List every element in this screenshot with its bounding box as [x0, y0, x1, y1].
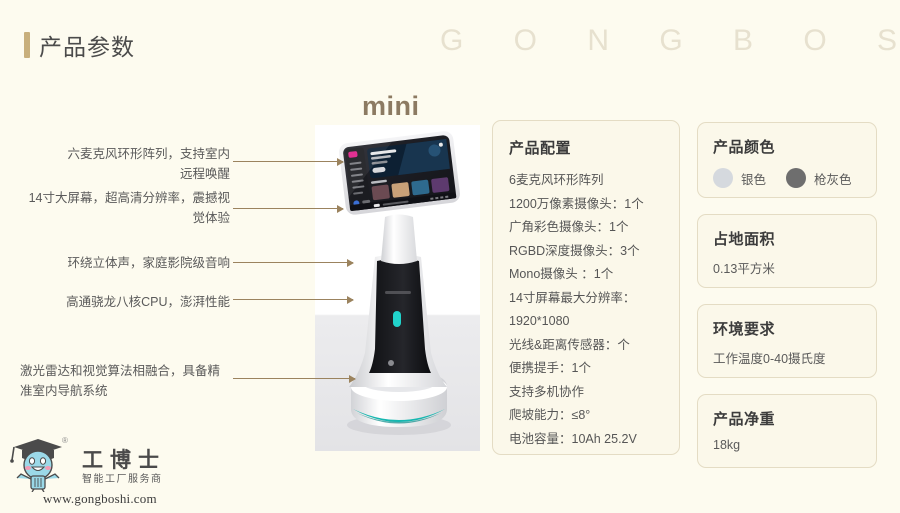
area-card-value: 0.13平方米	[713, 258, 876, 277]
env-card-value: 工作温度0-40摄氏度	[713, 348, 876, 367]
color-option-label: 银色	[741, 169, 766, 188]
weight-card-title: 产品净重	[713, 408, 876, 429]
spec-item: 广角彩色摄像头：1个	[509, 216, 679, 240]
color-option-silver[interactable]: 银色	[713, 168, 766, 188]
robot-illustration	[315, 125, 480, 451]
net-weight-card: 产品净重 18kg	[697, 394, 877, 468]
config-card-title: 产品配置	[509, 137, 679, 158]
title-accent-bar	[24, 32, 30, 58]
leader-line-1	[233, 161, 343, 162]
spec-item: 爬坡能力：≤8°	[509, 404, 679, 428]
leader-line-5	[233, 378, 355, 379]
spec-item: 电池容量：10Ah 25.2V	[509, 428, 679, 452]
annotation-microphone: 六麦克风环形阵列，支持室内远程唤醒	[60, 144, 230, 184]
product-color-card: 产品颜色 银色 枪灰色	[697, 122, 877, 198]
annotation-audio: 环绕立体声，家庭影院级音响	[20, 253, 230, 273]
color-option-label: 枪灰色	[814, 169, 852, 188]
spec-item: 14寸屏幕最大分辨率：	[509, 287, 679, 311]
spec-item: Mono摄像头 ：1个	[509, 263, 679, 287]
model-label: mini	[362, 91, 420, 122]
config-spec-list: 6麦克风环形阵列 1200万像素摄像头：1个 广角彩色摄像头：1个 RGBD深度…	[509, 169, 679, 451]
spec-item: 便携提手：1个	[509, 357, 679, 381]
company-logo[interactable]: ® 工博士 智能工厂服务商 www.gongboshi.com	[8, 436, 180, 508]
page-title-text: 产品参数	[39, 28, 135, 62]
color-swatch-icon	[786, 168, 806, 188]
product-photo	[315, 125, 480, 451]
page-title: 产品参数	[24, 28, 135, 62]
brand-watermark: G O N G B O S H I	[440, 24, 900, 58]
weight-card-value: 18kg	[713, 438, 876, 452]
footprint-area-card: 占地面积 0.13平方米	[697, 214, 877, 288]
spec-item: RGBD深度摄像头：3个	[509, 240, 679, 264]
environment-requirement-card: 环境要求 工作温度0-40摄氏度	[697, 304, 877, 378]
area-card-title: 占地面积	[713, 228, 876, 249]
color-option-gunmetal[interactable]: 枪灰色	[786, 168, 852, 188]
leader-line-2	[233, 208, 343, 209]
spec-item: 1920*1080	[509, 310, 679, 334]
annotation-screen: 14寸大屏幕，超高清分辨率，震撼视觉体验	[20, 188, 230, 228]
color-swatch-icon	[713, 168, 733, 188]
color-swatch-row: 银色 枪灰色	[713, 168, 876, 188]
annotation-lidar: 激光雷达和视觉算法相融合，具备精准室内导航系统	[20, 361, 230, 401]
color-card-title: 产品颜色	[713, 136, 876, 157]
leader-line-4	[233, 299, 353, 300]
spec-item: 支持多机协作	[509, 381, 679, 405]
annotation-cpu: 高通骁龙八核CPU，澎湃性能	[40, 292, 230, 312]
env-card-title: 环境要求	[713, 318, 876, 339]
spec-item: 光线&距离传感器：个	[509, 334, 679, 358]
leader-line-3	[233, 262, 353, 263]
registered-mark: ®	[62, 436, 68, 445]
spec-item: 1200万像素摄像头：1个	[509, 193, 679, 217]
logo-website-url[interactable]: www.gongboshi.com	[43, 491, 157, 507]
mascot-icon	[8, 436, 80, 492]
product-config-card: 产品配置 6麦克风环形阵列 1200万像素摄像头：1个 广角彩色摄像头：1个 R…	[492, 120, 680, 455]
logo-tagline: 智能工厂服务商	[82, 470, 163, 485]
spec-item: 6麦克风环形阵列	[509, 169, 679, 193]
